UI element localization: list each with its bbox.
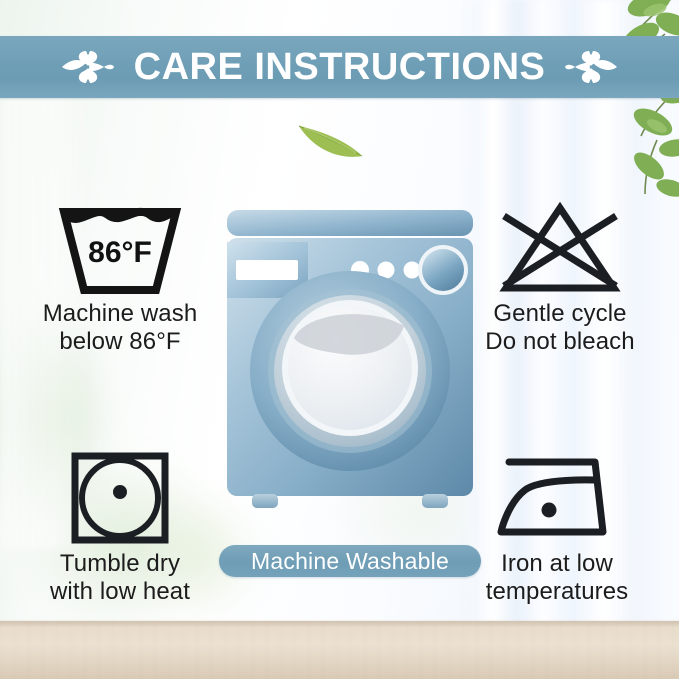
washer-foot xyxy=(252,494,278,508)
washing-machine-illustration xyxy=(222,208,478,526)
icon-container: 86°F xyxy=(15,196,225,300)
control-knob xyxy=(422,249,464,291)
icon-container xyxy=(15,446,225,550)
care-instructions-infographic: CARE INSTRUCTIONS 86°F Machine wash belo… xyxy=(0,0,679,679)
fleur-de-lis-left-icon xyxy=(60,47,116,87)
care-item-tumble-dry-low: Tumble dry with low heat xyxy=(15,446,225,607)
care-item-label: Tumble dry with low heat xyxy=(15,550,225,607)
tumble-dry-square-icon xyxy=(65,448,175,548)
washer-foot xyxy=(422,494,448,508)
machine-washable-badge: Machine Washable xyxy=(219,545,481,577)
fleur-de-lis-right-icon xyxy=(563,47,619,87)
care-item-label: Machine wash below 86°F xyxy=(15,300,225,357)
iron-icon xyxy=(487,448,627,548)
control-dot xyxy=(404,262,421,279)
detergent-drawer-slot xyxy=(236,260,298,280)
page-title: CARE INSTRUCTIONS xyxy=(134,48,546,86)
care-item-gentle-cycle-no-bleach: Gentle cycle Do not bleach xyxy=(455,196,665,357)
triangle-crossed-out-icon xyxy=(490,198,630,298)
care-item-machine-wash: 86°F Machine wash below 86°F xyxy=(15,196,225,357)
wood-grain-texture xyxy=(0,621,679,679)
wash-temperature-text: 86°F xyxy=(88,236,152,269)
care-item-label: Gentle cycle Do not bleach xyxy=(455,300,665,357)
header-banner: CARE INSTRUCTIONS xyxy=(0,36,679,98)
care-item-label: Iron at low temperatures xyxy=(452,550,662,607)
icon-container xyxy=(455,196,665,300)
care-item-iron-low-temp: Iron at low temperatures xyxy=(452,446,662,607)
badge-label: Machine Washable xyxy=(251,550,449,573)
wash-tub-icon: 86°F xyxy=(50,198,190,298)
icon-container xyxy=(452,446,662,550)
washer-top-lid xyxy=(227,210,473,236)
